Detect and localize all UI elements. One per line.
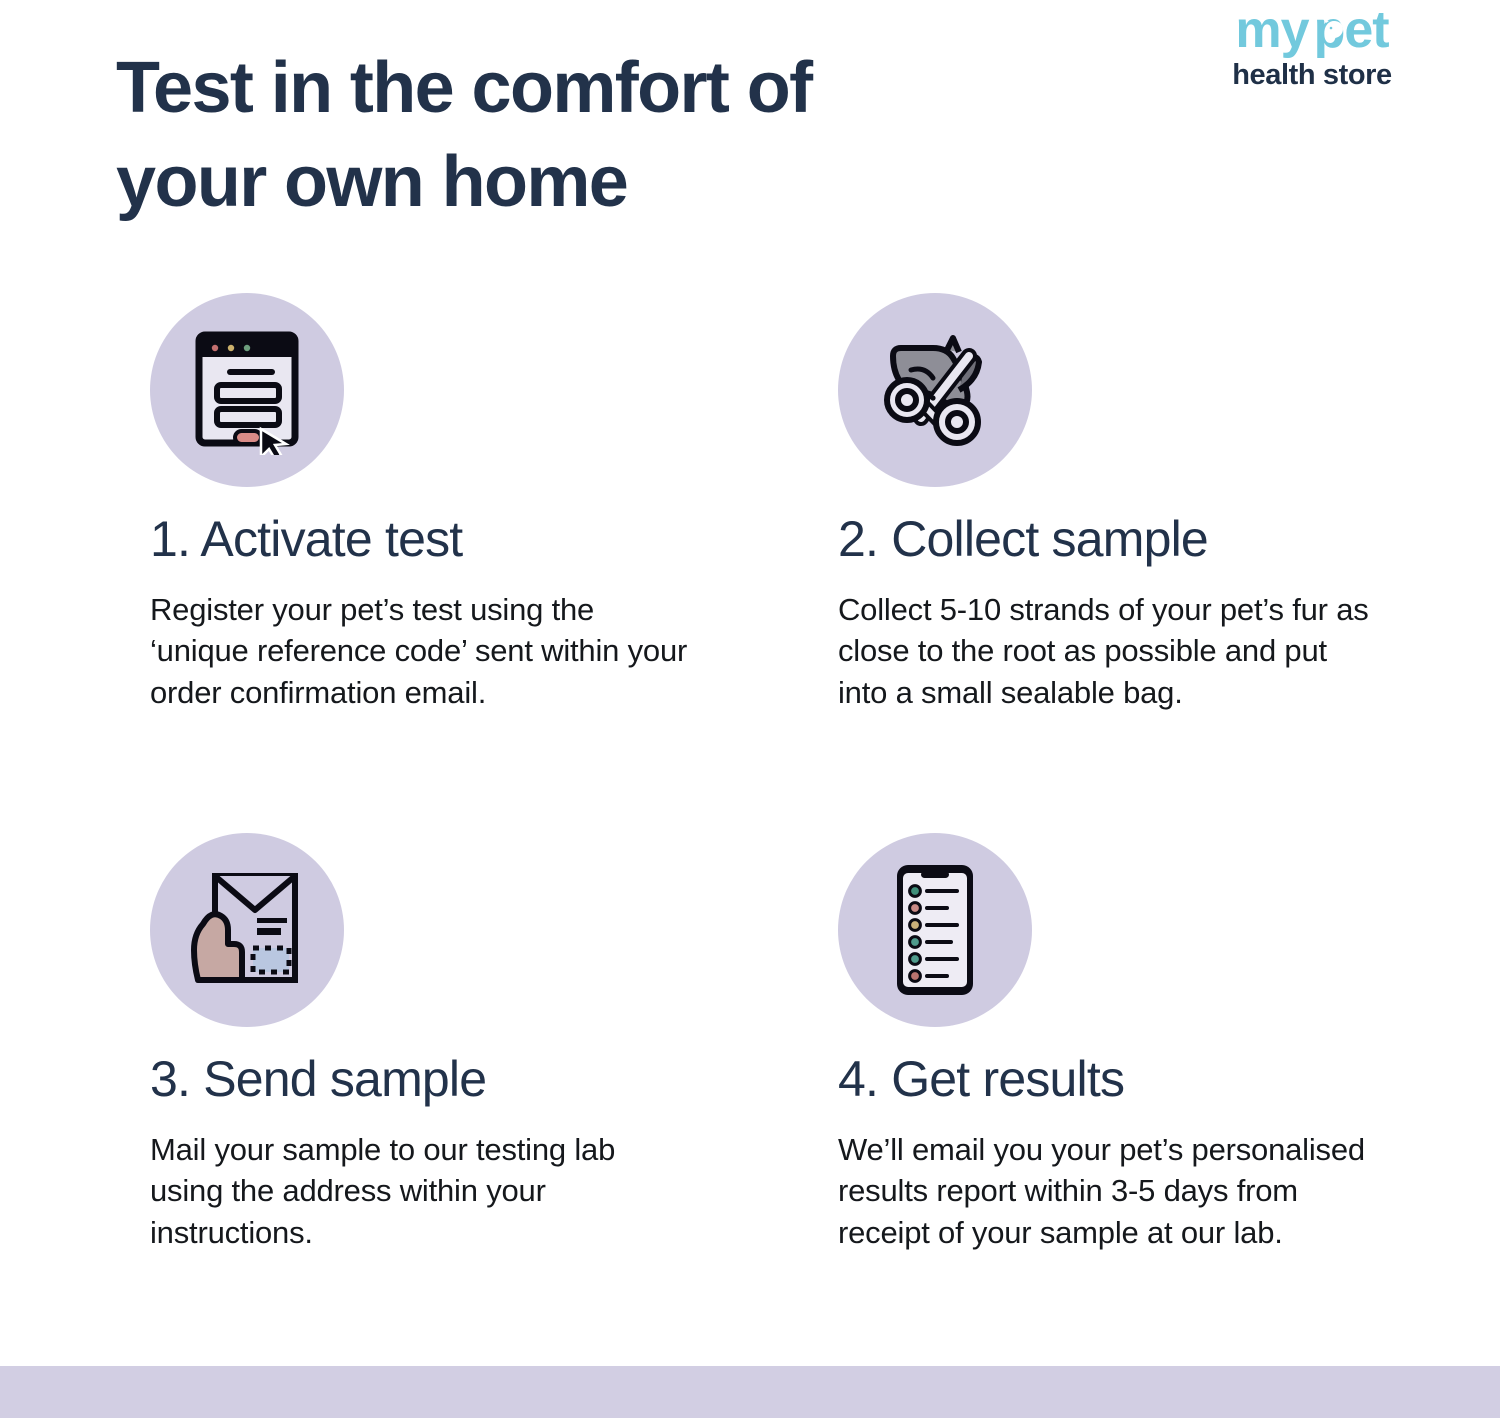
infographic-page: my pet health store Test in the comfort …	[0, 0, 1500, 1418]
brand-logo: my pet health store	[1212, 4, 1412, 90]
step-description: Collect 5-10 strands of your pet’s fur a…	[838, 589, 1378, 714]
footer-accent-bar	[0, 1366, 1500, 1418]
step-icon-badge	[838, 293, 1032, 487]
step-title: 4. Get results	[838, 1051, 1398, 1109]
step-icon-badge	[150, 833, 344, 1027]
step-title: 3. Send sample	[150, 1051, 710, 1109]
step-card-send-sample: 3. Send sample Mail your sample to our t…	[150, 833, 710, 1253]
step-card-collect-sample: 2. Collect sample Collect 5-10 strands o…	[838, 293, 1398, 713]
logo-word-my: my	[1235, 4, 1308, 56]
logo-word-pet-wrap: pet	[1314, 4, 1389, 56]
phone-results-list-icon	[879, 859, 991, 1001]
steps-grid: 1. Activate test Register your pet’s tes…	[0, 293, 1500, 1373]
logo-wordmark-secondary: health store	[1212, 61, 1412, 90]
step-card-get-results: 4. Get results We’ll email you your pet’…	[838, 833, 1398, 1253]
step-description: We’ll email you your pet’s personalised …	[838, 1129, 1378, 1254]
step-icon-badge	[838, 833, 1032, 1027]
hand-holding-envelope-icon	[181, 864, 313, 996]
scissors-cutting-fur-icon	[871, 326, 999, 454]
browser-form-cursor-icon	[187, 325, 307, 455]
logo-wordmark-primary: my pet	[1212, 4, 1412, 56]
steps-row-2: 3. Send sample Mail your sample to our t…	[0, 833, 1500, 1373]
step-card-activate-test: 1. Activate test Register your pet’s tes…	[150, 293, 710, 713]
logo-word-pet: pet	[1314, 1, 1389, 59]
step-title: 2. Collect sample	[838, 511, 1398, 569]
step-icon-badge	[150, 293, 344, 487]
step-description: Register your pet’s test using the ‘uniq…	[150, 589, 690, 714]
step-title: 1. Activate test	[150, 511, 710, 569]
step-description: Mail your sample to our testing lab usin…	[150, 1129, 690, 1254]
page-title: Test in the comfort of your own home	[116, 42, 976, 229]
steps-row-1: 1. Activate test Register your pet’s tes…	[0, 293, 1500, 833]
